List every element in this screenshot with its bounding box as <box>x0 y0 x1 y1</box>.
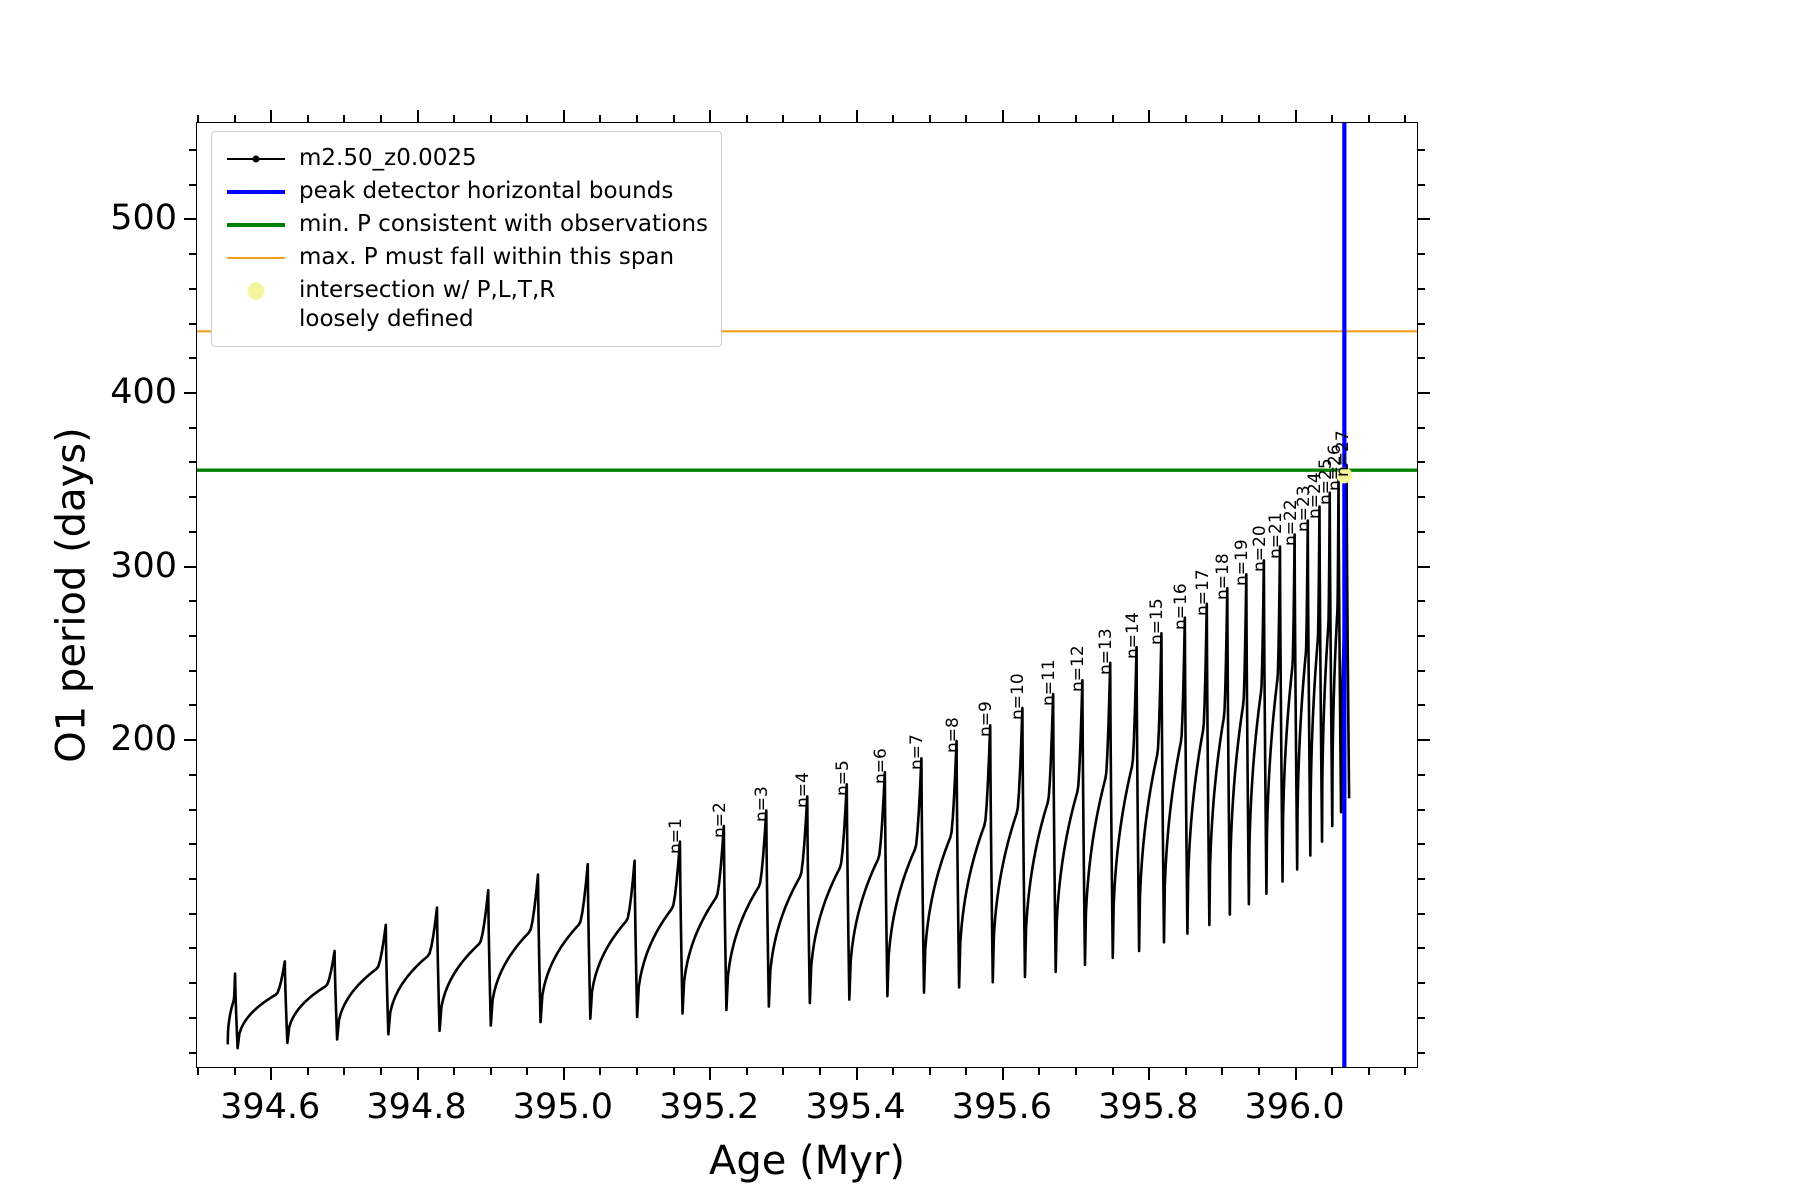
legend-item[interactable]: intersection w/ P,L,T,Rloosely defined <box>225 275 708 333</box>
legend-swatch-4 <box>225 242 287 273</box>
y-tick-minor <box>1417 1017 1425 1019</box>
x-tick-minor <box>1331 115 1333 123</box>
peak-label-n1: n=1 <box>666 818 686 854</box>
y-tick-minor <box>1417 878 1425 880</box>
y-tick-minor <box>189 600 197 602</box>
x-tick-minor <box>1075 1067 1077 1075</box>
y-tick-minor <box>189 461 197 463</box>
x-tick-major <box>856 1067 858 1080</box>
x-tick-label: 394.8 <box>366 1087 466 1127</box>
y-tick-label: 200 <box>110 719 177 759</box>
x-tick-minor <box>1368 1067 1370 1075</box>
legend-line-icon <box>227 190 285 194</box>
y-tick-major <box>184 566 197 568</box>
x-tick-label: 395.8 <box>1098 1087 1198 1127</box>
x-tick-minor <box>782 115 784 123</box>
legend-swatch-5 <box>225 275 287 306</box>
x-tick-minor <box>929 1067 931 1075</box>
legend-item[interactable]: m2.50_z0.0025 <box>225 143 708 174</box>
y-tick-minor <box>1417 323 1425 325</box>
x-tick-minor <box>746 1067 748 1075</box>
y-tick-label: 300 <box>110 546 177 586</box>
y-tick-major <box>1417 218 1430 220</box>
peak-label-n10: n=10 <box>1008 673 1028 720</box>
x-tick-minor <box>1075 115 1077 123</box>
y-tick-minor <box>189 774 197 776</box>
x-tick-minor <box>1038 115 1040 123</box>
x-tick-minor <box>1185 115 1187 123</box>
x-tick-label: 395.4 <box>805 1087 905 1127</box>
y-tick-minor <box>189 1017 197 1019</box>
y-tick-minor <box>189 635 197 637</box>
x-tick-minor <box>1038 1067 1040 1075</box>
x-tick-major <box>1295 1067 1297 1080</box>
x-tick-minor <box>307 115 309 123</box>
x-tick-minor <box>1368 115 1370 123</box>
x-tick-major <box>1002 110 1004 123</box>
legend-label: min. P consistent with observations <box>299 209 708 239</box>
x-tick-minor <box>819 1067 821 1075</box>
x-tick-minor <box>1404 1067 1406 1075</box>
y-tick-minor <box>1417 427 1425 429</box>
x-tick-minor <box>892 115 894 123</box>
x-tick-minor <box>782 1067 784 1075</box>
y-tick-minor <box>1417 496 1425 498</box>
legend-label: m2.50_z0.0025 <box>299 143 477 173</box>
legend-label: max. P must fall within this span <box>299 242 674 272</box>
x-tick-minor <box>636 115 638 123</box>
legend-label: intersection w/ P,L,T,Rloosely defined <box>299 275 555 333</box>
x-tick-major <box>1148 1067 1150 1080</box>
x-tick-minor <box>380 1067 382 1075</box>
x-tick-minor <box>965 115 967 123</box>
x-tick-minor <box>1112 115 1114 123</box>
x-tick-major <box>270 110 272 123</box>
y-tick-minor <box>189 323 197 325</box>
y-tick-minor <box>1417 149 1425 151</box>
x-tick-minor <box>490 115 492 123</box>
y-tick-minor <box>1417 288 1425 290</box>
peak-label-n8: n=8 <box>943 717 963 753</box>
legend-line-icon <box>227 223 285 227</box>
x-tick-minor <box>929 115 931 123</box>
y-tick-minor <box>1417 947 1425 949</box>
x-tick-minor <box>1221 115 1223 123</box>
x-tick-major <box>1295 110 1297 123</box>
peak-label-n3: n=3 <box>752 787 772 823</box>
y-axis-title-text: O1 period (days) <box>49 427 95 762</box>
y-axis-title: O1 period (days) <box>44 122 100 1068</box>
peak-label-n16: n=16 <box>1171 583 1191 630</box>
x-tick-minor <box>234 115 236 123</box>
peak-label-n4: n=4 <box>793 773 813 809</box>
y-tick-minor <box>189 496 197 498</box>
x-tick-minor <box>453 115 455 123</box>
figure-canvas: O1 period (days) Age (Myr) n=1n=2n=3n=4n… <box>0 0 1800 1200</box>
x-tick-major <box>270 1067 272 1080</box>
y-tick-minor <box>1417 774 1425 776</box>
series-line-m2-50 <box>228 465 1349 1048</box>
y-tick-label: 500 <box>110 198 177 238</box>
y-tick-minor <box>189 531 197 533</box>
x-tick-major <box>709 110 711 123</box>
y-tick-minor <box>1417 253 1425 255</box>
y-tick-major <box>184 218 197 220</box>
x-tick-minor <box>1258 115 1260 123</box>
x-tick-major <box>417 1067 419 1080</box>
y-tick-label: 400 <box>110 372 177 412</box>
peak-label-n5: n=5 <box>833 760 853 796</box>
y-tick-major <box>184 739 197 741</box>
legend[interactable]: m2.50_z0.0025peak detector horizontal bo… <box>211 131 722 347</box>
y-tick-minor <box>1417 982 1425 984</box>
y-tick-minor <box>1417 1052 1425 1054</box>
peak-label-n2: n=2 <box>710 802 730 838</box>
peak-label-n18: n=18 <box>1213 554 1233 601</box>
y-tick-minor <box>189 1052 197 1054</box>
legend-dot-icon <box>248 282 265 299</box>
y-tick-minor <box>1417 635 1425 637</box>
peak-label-n11: n=11 <box>1039 659 1059 706</box>
legend-swatch-2 <box>225 176 287 207</box>
y-tick-minor <box>1417 843 1425 845</box>
x-tick-minor <box>526 115 528 123</box>
y-tick-minor <box>189 878 197 880</box>
x-tick-minor <box>1258 1067 1260 1075</box>
legend-swatch-1 <box>225 143 287 174</box>
legend-item[interactable]: min. P consistent with observations <box>225 209 708 240</box>
y-tick-minor <box>189 427 197 429</box>
y-tick-minor <box>189 947 197 949</box>
x-tick-minor <box>526 1067 528 1075</box>
y-tick-minor <box>189 149 197 151</box>
legend-line-icon <box>227 257 285 259</box>
x-tick-minor <box>197 1067 199 1075</box>
peak-label-n12: n=12 <box>1068 646 1088 693</box>
y-tick-minor <box>1417 704 1425 706</box>
x-tick-minor <box>819 115 821 123</box>
x-tick-label: 394.6 <box>220 1087 320 1127</box>
y-tick-minor <box>1417 357 1425 359</box>
peak-label-n14: n=14 <box>1123 613 1143 660</box>
legend-swatch-3 <box>225 209 287 240</box>
x-tick-minor <box>197 115 199 123</box>
x-tick-minor <box>1185 1067 1187 1075</box>
y-tick-minor <box>189 184 197 186</box>
y-tick-minor <box>1417 184 1425 186</box>
peak-label-n27: n=27 <box>1333 430 1353 477</box>
x-tick-minor <box>1331 1067 1333 1075</box>
peak-label-n9: n=9 <box>976 701 996 737</box>
legend-item[interactable]: peak detector horizontal bounds <box>225 176 708 207</box>
x-tick-minor <box>380 115 382 123</box>
x-tick-minor <box>234 1067 236 1075</box>
peak-label-n17: n=17 <box>1193 569 1213 616</box>
y-tick-minor <box>1417 809 1425 811</box>
peak-label-n7: n=7 <box>907 734 927 770</box>
x-tick-minor <box>490 1067 492 1075</box>
x-tick-major <box>1148 110 1150 123</box>
x-tick-minor <box>1221 1067 1223 1075</box>
x-tick-minor <box>343 115 345 123</box>
x-tick-minor <box>343 1067 345 1075</box>
y-tick-minor <box>189 288 197 290</box>
peak-label-n13: n=13 <box>1096 628 1116 675</box>
x-tick-minor <box>599 1067 601 1075</box>
x-tick-minor <box>1404 115 1406 123</box>
y-tick-major <box>1417 566 1430 568</box>
y-tick-minor <box>1417 670 1425 672</box>
x-tick-major <box>1002 1067 1004 1080</box>
y-tick-major <box>1417 739 1430 741</box>
x-tick-minor <box>1112 1067 1114 1075</box>
y-tick-minor <box>189 253 197 255</box>
legend-label: peak detector horizontal bounds <box>299 176 673 206</box>
x-tick-minor <box>673 1067 675 1075</box>
x-tick-minor <box>599 115 601 123</box>
x-tick-minor <box>673 115 675 123</box>
x-tick-minor <box>453 1067 455 1075</box>
x-axis-title: Age (Myr) <box>196 1138 1418 1184</box>
peak-label-n15: n=15 <box>1147 599 1167 646</box>
y-tick-minor <box>189 913 197 915</box>
y-tick-minor <box>1417 913 1425 915</box>
y-tick-minor <box>1417 531 1425 533</box>
y-tick-minor <box>1417 461 1425 463</box>
peak-label-n6: n=6 <box>871 748 891 784</box>
y-tick-minor <box>189 670 197 672</box>
x-tick-minor <box>746 115 748 123</box>
x-tick-major <box>563 110 565 123</box>
x-tick-label: 396.0 <box>1244 1087 1344 1127</box>
y-tick-minor <box>189 982 197 984</box>
y-tick-major <box>184 392 197 394</box>
x-tick-label: 395.0 <box>513 1087 613 1127</box>
x-tick-minor <box>307 1067 309 1075</box>
plot-axes: n=1n=2n=3n=4n=5n=6n=7n=8n=9n=10n=11n=12n… <box>196 122 1418 1068</box>
x-tick-major <box>856 110 858 123</box>
x-tick-major <box>417 110 419 123</box>
y-tick-major <box>1417 392 1430 394</box>
x-tick-label: 395.2 <box>659 1087 759 1127</box>
y-tick-minor <box>189 704 197 706</box>
x-tick-minor <box>965 1067 967 1075</box>
x-tick-label: 395.6 <box>952 1087 1052 1127</box>
legend-item[interactable]: max. P must fall within this span <box>225 242 708 273</box>
y-tick-minor <box>189 843 197 845</box>
y-tick-minor <box>1417 600 1425 602</box>
x-tick-major <box>563 1067 565 1080</box>
x-tick-major <box>709 1067 711 1080</box>
y-tick-minor <box>189 357 197 359</box>
x-tick-minor <box>636 1067 638 1075</box>
legend-marker-icon <box>253 155 260 162</box>
x-tick-minor <box>892 1067 894 1075</box>
y-tick-minor <box>189 809 197 811</box>
